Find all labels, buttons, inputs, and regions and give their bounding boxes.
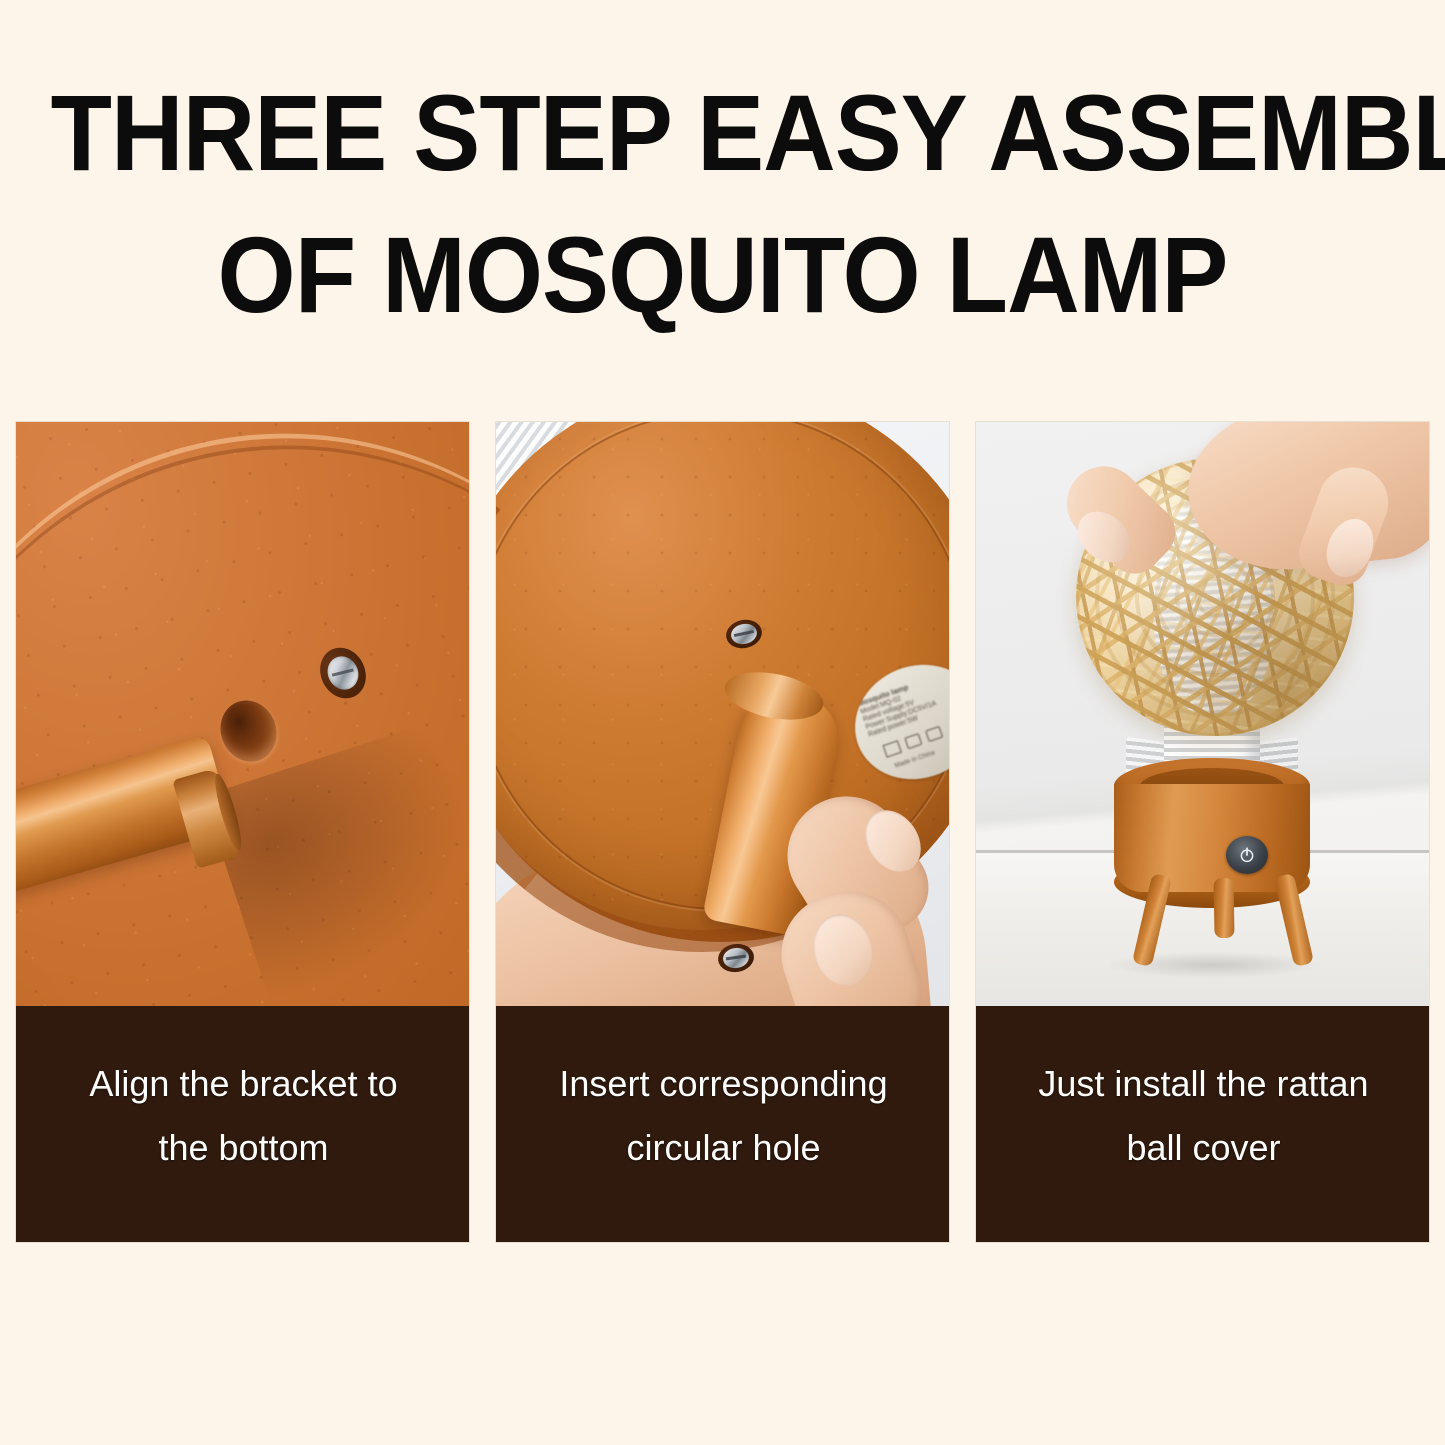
- step-3-photo: [976, 422, 1430, 1006]
- step-2-caption-line-2: circular hole: [496, 1116, 950, 1180]
- step-3-caption: Just install the rattan ball cover: [976, 1006, 1430, 1243]
- assembly-step-2: Mosquito lamp Model:MQ-02 Rated voltage:…: [495, 421, 950, 1243]
- warning-triangle-icon: [883, 740, 902, 757]
- recycle-icon: [925, 726, 943, 742]
- power-icon[interactable]: [1226, 836, 1268, 874]
- assembly-steps-gallery: Align the bracket to the bottom Mosquito…: [15, 421, 1430, 1243]
- page-title-line-1: THREE STEP EASY ASSEMBLY: [51, 62, 1395, 204]
- lamp-leg: [1213, 878, 1234, 938]
- step-2-photo: Mosquito lamp Model:MQ-02 Rated voltage:…: [496, 422, 950, 1006]
- step-1-photo: [16, 422, 470, 1006]
- product-label-footer: Made in China: [894, 749, 936, 769]
- step-2-caption: Insert corresponding circular hole: [496, 1006, 950, 1243]
- step-3-caption-line-2: ball cover: [976, 1116, 1430, 1180]
- step-1-caption-line-1: Align the bracket to: [16, 1052, 470, 1116]
- page-title: THREE STEP EASY ASSEMBLY OF MOSQUITO LAM…: [0, 62, 1445, 346]
- page-title-line-2: OF MOSQUITO LAMP: [51, 204, 1395, 346]
- do-not-dispose-icon: [904, 733, 922, 749]
- step-3-caption-line-1: Just install the rattan: [976, 1052, 1430, 1116]
- step-1-caption-line-2: the bottom: [16, 1116, 470, 1180]
- step-2-caption-line-1: Insert corresponding: [496, 1052, 950, 1116]
- step-1-caption: Align the bracket to the bottom: [16, 1006, 470, 1243]
- assembly-step-1: Align the bracket to the bottom: [15, 421, 470, 1243]
- assembly-step-3: Just install the rattan ball cover: [975, 421, 1430, 1243]
